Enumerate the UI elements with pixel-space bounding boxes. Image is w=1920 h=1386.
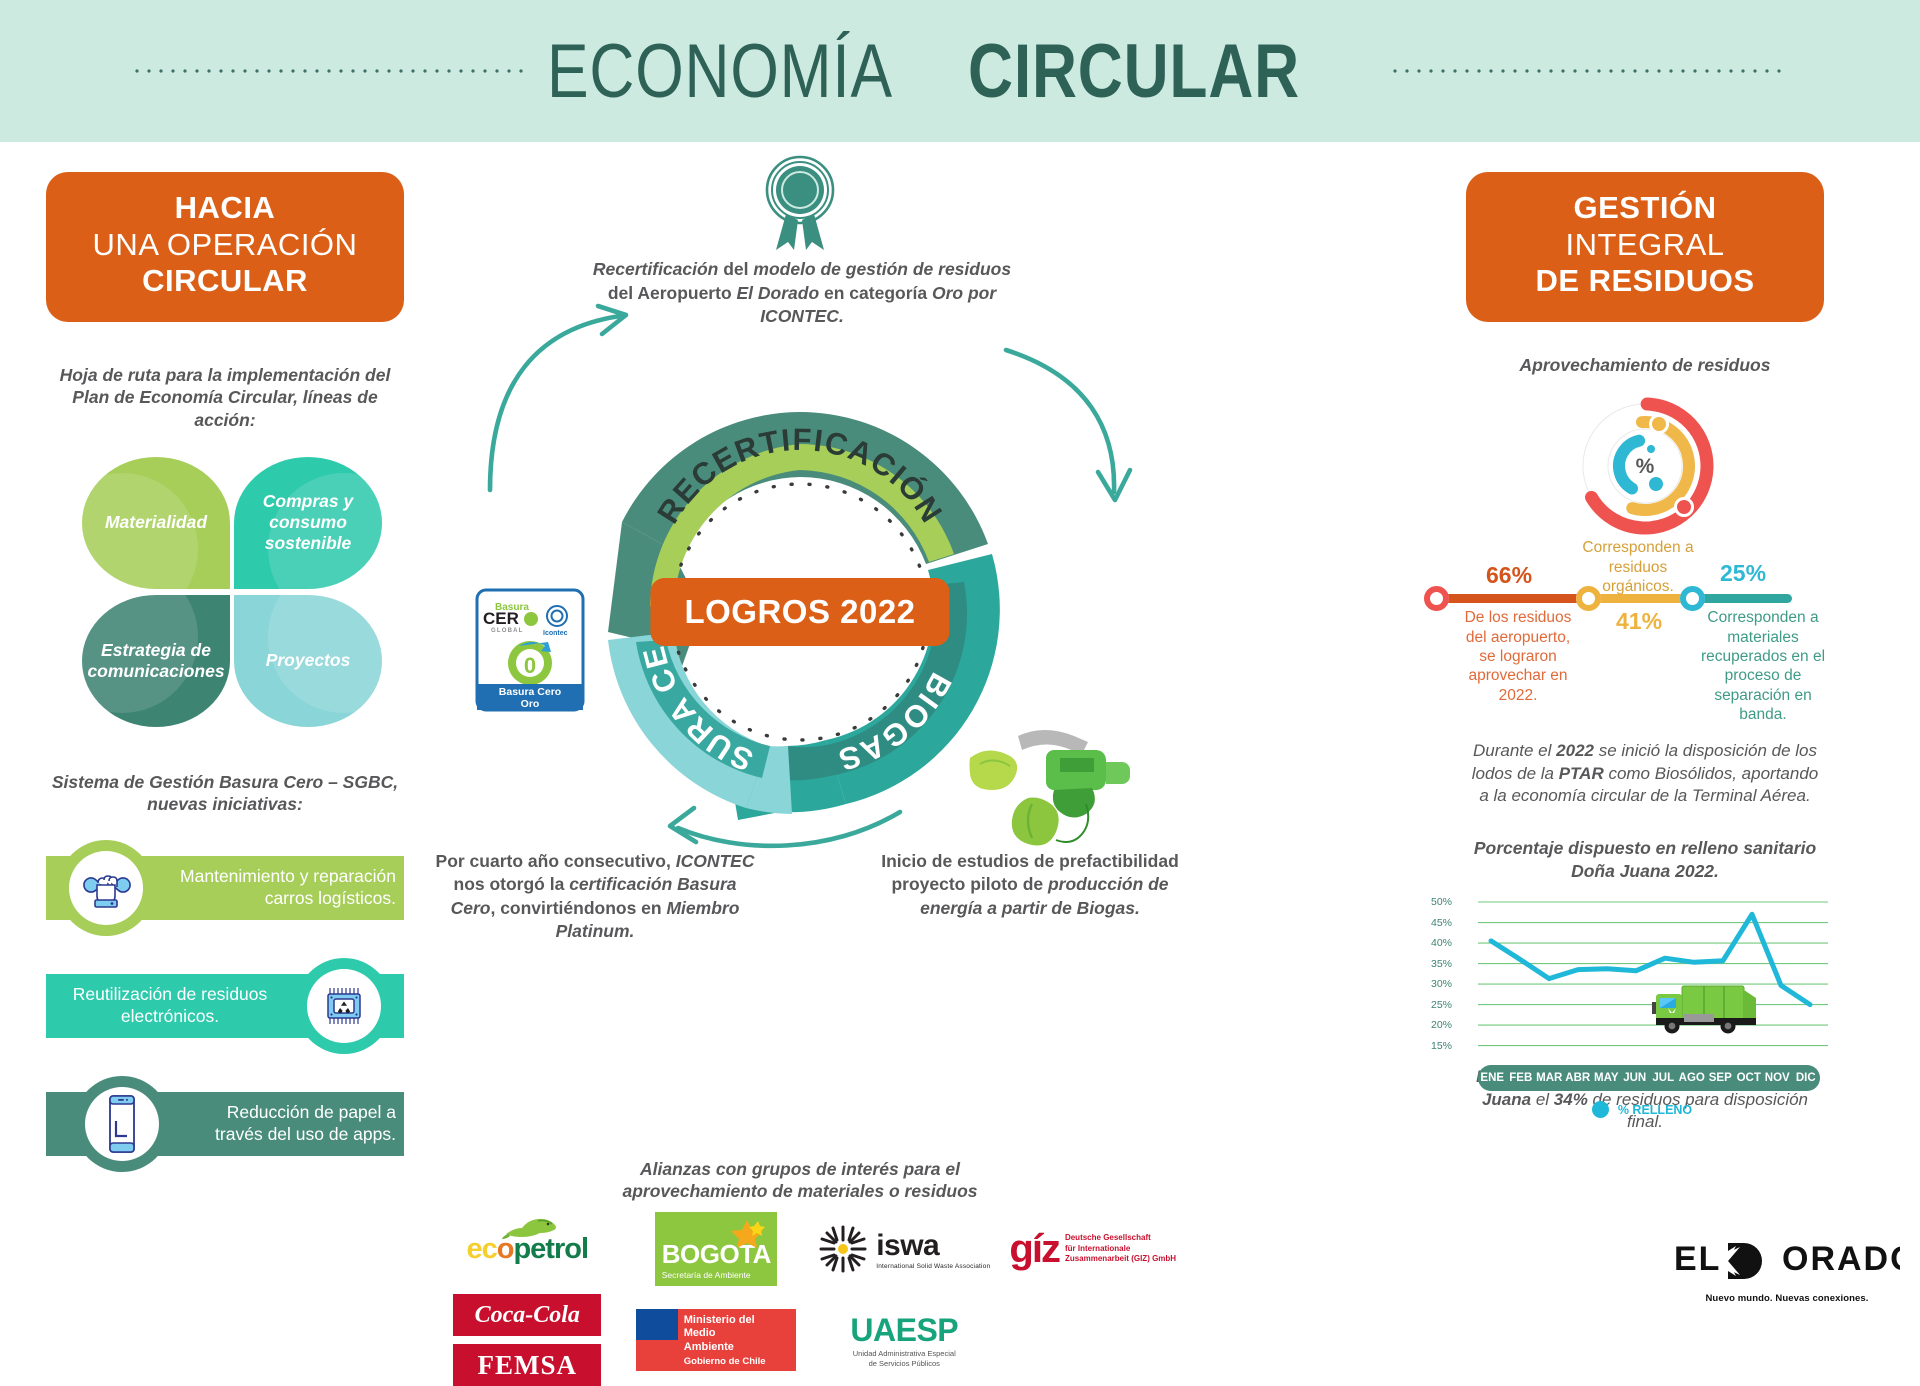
iguana-icon bbox=[502, 1214, 562, 1240]
cap-recert-p1: Recertificación bbox=[593, 259, 718, 279]
timeline-dot-mid[interactable] bbox=[1576, 586, 1601, 611]
minchile-line4: Gobierno de Chile bbox=[684, 1356, 796, 1368]
iswa-sunburst-icon bbox=[818, 1224, 868, 1274]
arrow-left-up-icon bbox=[480, 300, 660, 500]
chart-svg bbox=[1456, 892, 1828, 1052]
cap-recert-p6: en categoría bbox=[819, 283, 932, 303]
ptar-p1: Durante el bbox=[1473, 741, 1556, 760]
right-heading-line2: INTEGRAL bbox=[1476, 227, 1814, 264]
petal-label: Proyectos bbox=[258, 650, 359, 671]
garbage-truck-icon bbox=[1652, 986, 1756, 1034]
y-tick-35: 35% bbox=[1431, 958, 1456, 970]
uaesp-logo: UAESP Unidad Administrativa Especial de … bbox=[817, 1305, 992, 1375]
page-title-bold: CIRCULAR bbox=[968, 28, 1300, 115]
award-ribbon-icon bbox=[758, 150, 842, 254]
petal-estrategia-comunicaciones[interactable]: Estrategia de comunicaciones bbox=[82, 595, 230, 727]
initiative-label: Reutilización de residuos electrónicos. bbox=[54, 984, 286, 1028]
minchile-logo-box: Ministerio del Medio Ambiente Gobierno d… bbox=[636, 1309, 796, 1371]
initiative-reutilizacion[interactable]: Reutilización de residuos electrónicos. bbox=[46, 960, 404, 1052]
page-header: ECONOMÍA CIRCULAR bbox=[0, 0, 1920, 142]
badge-cero-text: CER bbox=[483, 609, 519, 628]
giz-logo-box: gíz Deutsche Gesellschaft für Internatio… bbox=[1009, 1227, 1176, 1272]
header-dots-left bbox=[131, 69, 531, 73]
y-tick-30: 30% bbox=[1431, 978, 1456, 990]
month-jun: JUN bbox=[1621, 1072, 1650, 1084]
timeline-text-25: Corresponden a materiales recuperados en… bbox=[1690, 608, 1836, 724]
donut-knob-red bbox=[1676, 499, 1693, 516]
cocacola-femsa-logo: Coca-Cola FEMSA bbox=[440, 1294, 615, 1386]
left-heading-line2: UNA OPERACIÓN bbox=[56, 227, 394, 264]
petal-materialidad[interactable]: Materialidad bbox=[82, 457, 230, 589]
caption-biogas: Inicio de estudios de prefactibilidad pr… bbox=[870, 850, 1190, 920]
crest-bottom bbox=[636, 1340, 678, 1371]
cap-recert-p3: modelo de gestión de residuos bbox=[753, 259, 1011, 279]
eldorado-logo: EL ORADO Nuevo mundo. Nuevas conexiones. bbox=[1672, 1240, 1902, 1304]
page-title-light: ECONOMÍA bbox=[547, 28, 893, 115]
donut-knob-gold bbox=[1651, 416, 1668, 433]
fuel-nozzle-leaf-icon bbox=[958, 720, 1148, 850]
timeline-value-66: 66% bbox=[1486, 562, 1532, 589]
iswa-logo: iswa International Solid Waste Associati… bbox=[817, 1214, 992, 1284]
smartphone-glyph bbox=[102, 1093, 142, 1155]
eldorado-wordmark: EL ORADO bbox=[1674, 1240, 1900, 1286]
cocacola-wordmark: Coca-Cola bbox=[453, 1294, 601, 1336]
left-heading-line3: CIRCULAR bbox=[56, 263, 394, 300]
bogota-logo: BOGOTA Secretaría de Ambiente bbox=[629, 1212, 804, 1286]
caption-roadmap: Hoja de ruta para la implementación del … bbox=[46, 364, 404, 431]
ecopetrol-logo: ecopetrol bbox=[440, 1214, 615, 1284]
timeline-value-41: 41% bbox=[1616, 608, 1662, 635]
right-heading-line1: GESTIÓN bbox=[1476, 190, 1814, 227]
petal-compras-consumo-sostenible[interactable]: Compras y consumo sostenible bbox=[234, 457, 382, 589]
timeline-value-25: 25% bbox=[1720, 560, 1766, 587]
iswa-wordmark: iswa bbox=[876, 1229, 990, 1263]
cap-bc-p3: nos otorgó la bbox=[454, 874, 570, 894]
donut-marker-gold-bottom bbox=[1627, 505, 1635, 513]
star-icon bbox=[731, 1218, 765, 1248]
bogota-subtitle: Secretaría de Ambiente bbox=[662, 1270, 777, 1280]
month-oct: OCT bbox=[1735, 1072, 1764, 1084]
minchile-text: Ministerio del Medio Ambiente Gobierno d… bbox=[678, 1309, 796, 1371]
dot-ring bbox=[1680, 586, 1705, 611]
crest-top bbox=[636, 1309, 678, 1340]
left-panel: HACIA UNA OPERACIÓN CIRCULAR Hoja de rut… bbox=[46, 172, 404, 1170]
eco-part1: ec bbox=[466, 1233, 496, 1265]
month-ene: ENE bbox=[1478, 1072, 1507, 1084]
page-title: ECONOMÍA CIRCULAR bbox=[547, 28, 1374, 115]
ministerio-medio-ambiente-chile-logo: Ministerio del Medio Ambiente Gobierno d… bbox=[629, 1305, 804, 1375]
chile-crest-icon bbox=[636, 1309, 678, 1371]
eldorado-orado: ORADO bbox=[1782, 1240, 1900, 1278]
relleno-sanitario-line-chart: 50% 45% 40% 35% 30% 25% 20% 15% bbox=[1456, 892, 1828, 1052]
caption-alianzas: Alianzas con grupos de interés para el a… bbox=[590, 1158, 1010, 1203]
aprovechamiento-donut-chart: % bbox=[1555, 392, 1735, 542]
dot-ring bbox=[1576, 586, 1601, 611]
wrench-hand-icon bbox=[58, 840, 154, 936]
y-tick-15: 15% bbox=[1431, 1040, 1456, 1052]
aprovechamiento-timeline: 66% De los residuos del aeropuerto, se l… bbox=[1432, 546, 1836, 736]
giz-line3: Zusammenarbeit (GIZ) GmbH bbox=[1065, 1254, 1176, 1265]
timeline-dot-start[interactable] bbox=[1424, 586, 1449, 611]
left-panel-heading: HACIA UNA OPERACIÓN CIRCULAR bbox=[46, 172, 404, 322]
petal-label: Estrategia de comunicaciones bbox=[82, 640, 230, 682]
badge-oro-text: Oro bbox=[521, 698, 540, 710]
month-nov: NOV bbox=[1763, 1072, 1792, 1084]
legend-swatch-relleno bbox=[1592, 1101, 1609, 1118]
month-may: MAY bbox=[1592, 1072, 1621, 1084]
caption-ptar: Durante el 2022 se inició la disposición… bbox=[1466, 740, 1824, 807]
month-jul: JUL bbox=[1649, 1072, 1678, 1084]
cap-bc-p5: , convirtiéndonos en bbox=[490, 898, 666, 918]
month-sep: SEP bbox=[1706, 1072, 1735, 1084]
timeline-segment-66 bbox=[1432, 594, 1592, 603]
initiative-mantenimiento[interactable]: Mantenimiento y reparación carros logíst… bbox=[46, 842, 404, 934]
uaesp-logo-box: UAESP Unidad Administrativa Especial de … bbox=[850, 1312, 958, 1368]
y-tick-45: 45% bbox=[1431, 917, 1456, 929]
iswa-subtitle: International Solid Waste Association bbox=[876, 1263, 990, 1270]
left-heading-line1: HACIA bbox=[56, 190, 394, 227]
chart-title: Porcentaje dispuesto en relleno sanitari… bbox=[1466, 837, 1824, 882]
right-panel: GESTIÓN INTEGRAL DE RESIDUOS Aprovechami… bbox=[1466, 172, 1824, 1134]
y-tick-20: 20% bbox=[1431, 1019, 1456, 1031]
y-tick-50: 50% bbox=[1431, 896, 1456, 908]
center-panel: Recertificación del modelo de gestión de… bbox=[420, 150, 1180, 1330]
caption-aprovechamiento: Aprovechamiento de residuos bbox=[1466, 354, 1824, 376]
timeline-dot-end[interactable] bbox=[1680, 586, 1705, 611]
donut-marker-blue bbox=[1647, 445, 1655, 453]
badge-global-text: GLOBAL bbox=[491, 628, 524, 634]
petal-label: Materialidad bbox=[97, 512, 215, 533]
recycle-chip-glyph bbox=[316, 980, 372, 1032]
basura-cero-oro-badge-svg: Basura CER GLOBAL Icontec 0 Basura Cero … bbox=[475, 588, 585, 712]
y-tick-25: 25% bbox=[1431, 999, 1456, 1011]
badge-icontec-text: Icontec bbox=[543, 630, 568, 637]
header-dots-right bbox=[1389, 69, 1789, 73]
initiative-label: Mantenimiento y reparación carros logíst… bbox=[174, 866, 396, 910]
right-heading-line3: DE RESIDUOS bbox=[1476, 263, 1814, 300]
right-panel-heading: GESTIÓN INTEGRAL DE RESIDUOS bbox=[1466, 172, 1824, 322]
caption-basura-cero: Por cuarto año consecutivo, ICONTEC nos … bbox=[430, 850, 760, 944]
logo-empty-cell bbox=[1006, 1305, 1181, 1375]
eldorado-tagline: Nuevo mundo. Nuevas conexiones. bbox=[1672, 1293, 1902, 1304]
recycle-chip-icon bbox=[296, 958, 392, 1054]
petal-label: Compras y consumo sostenible bbox=[234, 491, 382, 554]
cap-recert-p2: del bbox=[718, 259, 753, 279]
petal-proyectos[interactable]: Proyectos bbox=[234, 595, 382, 727]
cap-bc-p1: Por cuarto año consecutivo, bbox=[436, 851, 676, 871]
giz-text: Deutsche Gesellschaft für Internationale… bbox=[1065, 1233, 1176, 1265]
giz-wordmark: gíz bbox=[1009, 1227, 1059, 1272]
month-feb: FEB bbox=[1507, 1072, 1536, 1084]
legend-label-relleno: % RELLENO bbox=[1618, 1103, 1692, 1117]
badge-zero-text: 0 bbox=[524, 653, 536, 678]
bogota-logo-box: BOGOTA Secretaría de Ambiente bbox=[655, 1212, 777, 1286]
iswa-text: iswa International Solid Waste Associati… bbox=[876, 1229, 990, 1270]
initiative-reduccion-papel[interactable]: Reducción de papel a través del uso de a… bbox=[46, 1078, 404, 1170]
cap-bc-p2: ICONTEC bbox=[676, 851, 755, 871]
uaesp-wordmark: UAESP bbox=[850, 1312, 958, 1349]
timeline-text-66: De los residuos del aeropuerto, se logra… bbox=[1460, 608, 1576, 705]
chart-month-axis: ENE FEB MAR ABR MAY JUN JUL AGO SEP OCT … bbox=[1478, 1065, 1820, 1091]
month-dic: DIC bbox=[1792, 1072, 1821, 1084]
giz-line1: Deutsche Gesellschaft bbox=[1065, 1233, 1176, 1244]
donut-marker-red-top bbox=[1641, 400, 1649, 408]
badge-basura-cero-text: Basura Cero bbox=[499, 686, 561, 698]
giz-logo: gíz Deutsche Gesellschaft für Internatio… bbox=[1006, 1214, 1181, 1284]
chart-legend: % RELLENO bbox=[1456, 1101, 1828, 1118]
caption-sgbc: Sistema de Gestión Basura Cero – SGBC, n… bbox=[46, 771, 404, 816]
partner-logos-grid: ecopetrol BOGOTA Secretaría de Ambiente bbox=[440, 1212, 1180, 1386]
action-lines-petals: Materialidad Compras y consumo sostenibl… bbox=[70, 457, 380, 737]
ptar-p2: 2022 bbox=[1556, 741, 1594, 760]
month-abr: ABR bbox=[1564, 1072, 1593, 1084]
femsa-wordmark: FEMSA bbox=[453, 1344, 601, 1386]
uaesp-sub2: de Servicios Públicos bbox=[850, 1359, 958, 1368]
iswa-logo-box: iswa International Solid Waste Associati… bbox=[818, 1224, 990, 1274]
smartphone-icon bbox=[74, 1076, 170, 1172]
logros-center-badge: LOGROS 2022 bbox=[650, 578, 949, 646]
arrow-right-down-icon bbox=[998, 340, 1138, 510]
cap-recert-p5: El Dorado bbox=[737, 283, 820, 303]
donut-center-label: % bbox=[1636, 455, 1655, 479]
minchile-line2: Medio bbox=[684, 1327, 796, 1340]
uaesp-sub1: Unidad Administrativa Especial bbox=[850, 1349, 958, 1358]
basura-cero-oro-badge: Basura CER GLOBAL Icontec 0 Basura Cero … bbox=[475, 588, 585, 717]
wrench-hand-glyph bbox=[78, 866, 134, 910]
ecopetrol-wordmark: ecopetrol bbox=[466, 1233, 588, 1266]
month-ago: AGO bbox=[1678, 1072, 1707, 1084]
ptar-p4: PTAR bbox=[1559, 764, 1604, 783]
initiative-label: Reducción de papel a través del uso de a… bbox=[186, 1102, 396, 1146]
giz-line2: für Internationale bbox=[1065, 1244, 1176, 1255]
minchile-line1: Ministerio del bbox=[684, 1314, 796, 1327]
y-tick-40: 40% bbox=[1431, 937, 1456, 949]
month-mar: MAR bbox=[1535, 1072, 1564, 1084]
chart-series-relleno bbox=[1491, 915, 1810, 1005]
minchile-line3: Ambiente bbox=[684, 1341, 796, 1354]
dot-ring bbox=[1424, 586, 1449, 611]
